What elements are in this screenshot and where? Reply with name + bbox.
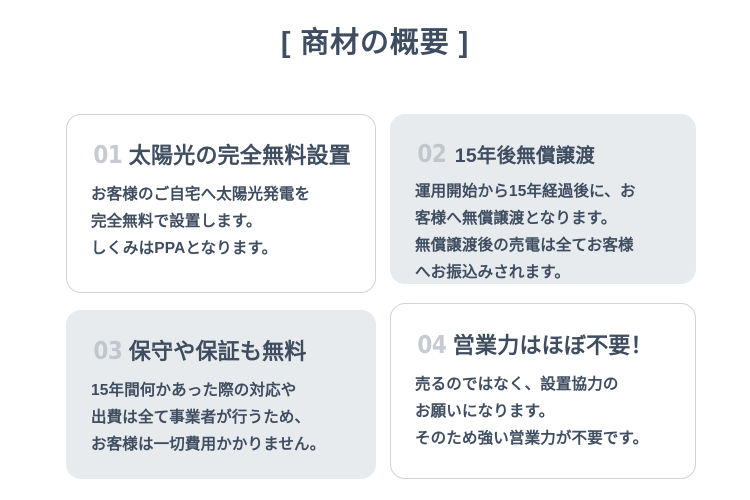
card-01-body-line-3: しくみはPPAとなります。: [91, 235, 361, 262]
card-01-header: 01 太陽光の完全無料設置: [91, 115, 361, 170]
card-04-title: 営業力はほぼ不要！: [453, 328, 653, 360]
feature-card-04[interactable]: 04 営業力はほぼ不要！ 売るのではなく、設置協力の お願いになります。 そのた…: [390, 303, 696, 479]
page-title: [ 商材の概要 ]: [0, 26, 750, 61]
card-03-number: 03: [93, 336, 122, 365]
card-01-title: 太陽光の完全無料設置: [129, 138, 351, 170]
card-04-body: 売るのではなく、設置協力の お願いになります。 そのため強い営業力が不要です。: [415, 360, 681, 452]
card-02-number: 02: [417, 139, 446, 168]
card-02-body: 運用開始から15年経過後に、お 客様へ無償譲渡となります。 無償譲渡後の売電は全…: [415, 168, 681, 286]
card-01-body-line-1: お客様のご自宅へ太陽光発電を: [91, 181, 361, 208]
feature-cards-grid: 01 太陽光の完全無料設置 お客様のご自宅へ太陽光発電を 完全無料で設置します。…: [66, 114, 696, 480]
card-04-number: 04: [417, 330, 446, 359]
card-02-header: 02 15年後無償譲渡: [415, 115, 681, 168]
card-01-number: 01: [93, 140, 122, 169]
card-04-body-line-1: 売るのではなく、設置協力の: [415, 371, 681, 398]
card-02-body-line-1: 運用開始から15年経過後に、お: [415, 178, 681, 205]
card-03-body-line-3: お客様は一切費用かかりません。: [91, 431, 361, 458]
card-01-body-line-2: 完全無料で設置します。: [91, 208, 361, 235]
card-04-body-line-3: そのため強い営業力が不要です。: [415, 425, 681, 452]
feature-card-03[interactable]: 03 保守や保証も無料 15年間何かあった際の対応や 出費は全て事業者が行うため…: [66, 310, 376, 479]
card-03-body: 15年間何かあった際の対応や 出費は全て事業者が行うため、 お客様は一切費用かか…: [91, 366, 361, 458]
card-03-title: 保守や保証も無料: [129, 334, 307, 366]
card-03-body-line-1: 15年間何かあった際の対応や: [91, 377, 361, 404]
card-01-body: お客様のご自宅へ太陽光発電を 完全無料で設置します。 しくみはPPAとなります。: [91, 170, 361, 262]
card-04-header: 04 営業力はほぼ不要！: [415, 304, 681, 360]
card-02-body-line-2: 客様へ無償譲渡となります。: [415, 205, 681, 232]
feature-card-01[interactable]: 01 太陽光の完全無料設置 お客様のご自宅へ太陽光発電を 完全無料で設置します。…: [66, 114, 376, 293]
card-03-body-line-2: 出費は全て事業者が行うため、: [91, 404, 361, 431]
card-03-header: 03 保守や保証も無料: [91, 311, 361, 366]
feature-card-02[interactable]: 02 15年後無償譲渡 運用開始から15年経過後に、お 客様へ無償譲渡となります…: [390, 114, 696, 284]
card-02-body-line-3: 無償譲渡後の売電は全てお客様: [415, 232, 681, 259]
card-04-body-line-2: お願いになります。: [415, 398, 681, 425]
card-02-body-line-4: へお振込みされます。: [415, 259, 681, 286]
card-02-title: 15年後無償譲渡: [455, 139, 595, 168]
